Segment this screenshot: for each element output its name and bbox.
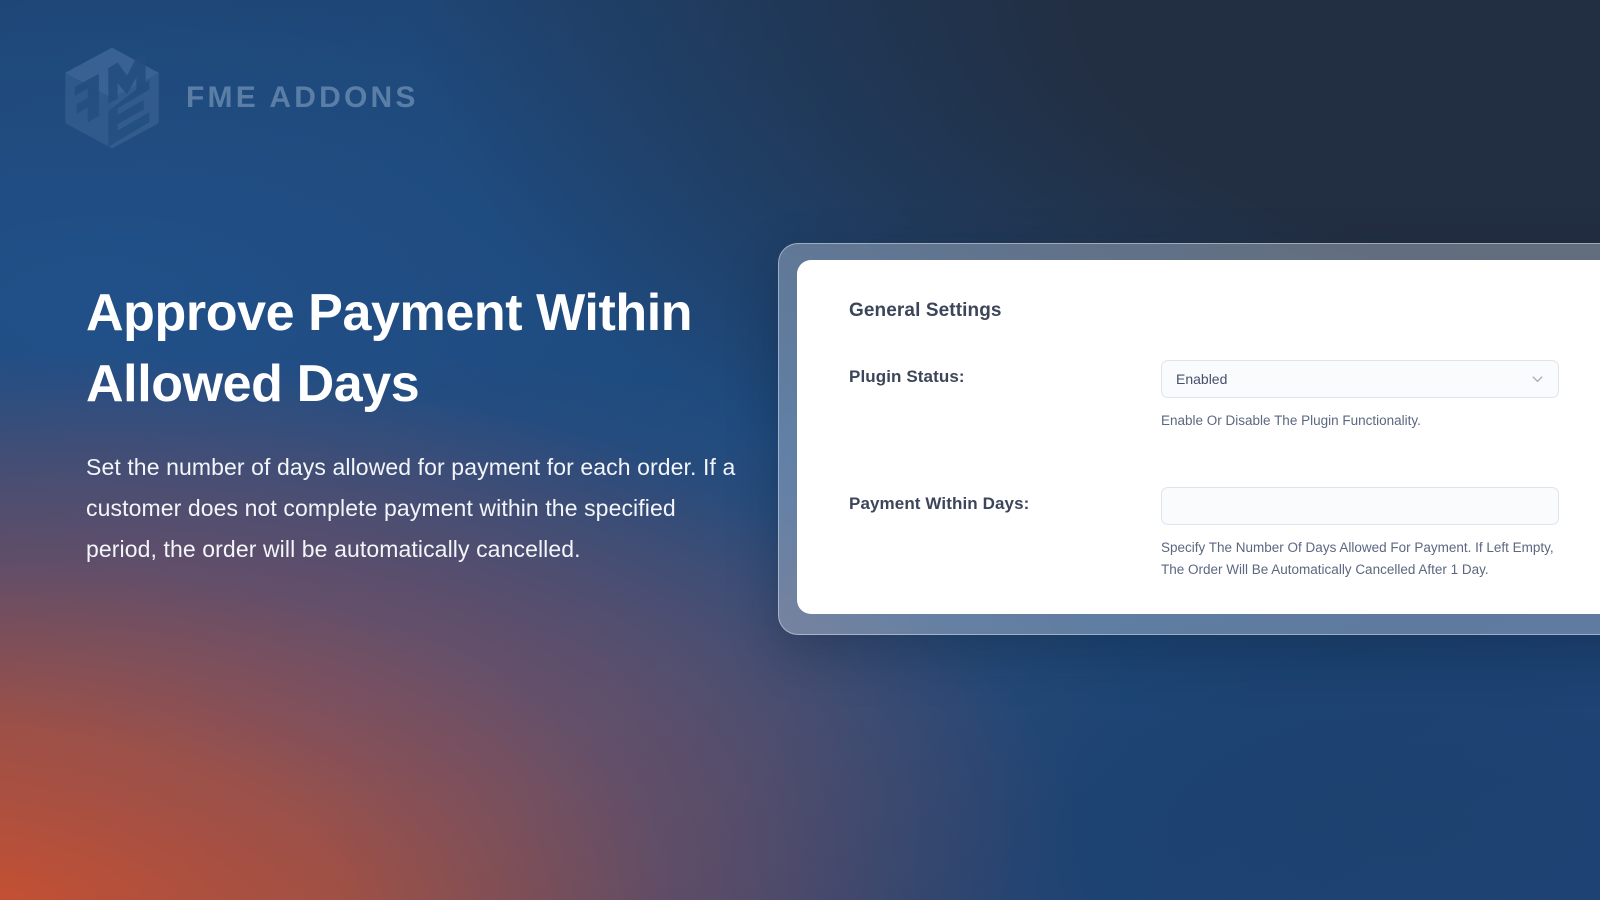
field-control-payment-within-days: Specify The Number Of Days Allowed For P… [1161, 487, 1559, 580]
chevron-down-icon[interactable] [1530, 372, 1545, 387]
field-row-payment-within-days: Payment Within Days: Specify The Number … [849, 487, 1600, 580]
settings-panel-card: General Settings Plugin Status: Enabled … [797, 260, 1600, 614]
plugin-status-select[interactable]: Enabled [1161, 360, 1559, 398]
settings-panel-content: General Settings Plugin Status: Enabled … [849, 300, 1600, 614]
field-control-plugin-status: Enabled Enable Or Disable The Plugin Fun… [1161, 360, 1559, 431]
section-heading-general-settings: General Settings [849, 300, 1600, 322]
payment-within-days-input[interactable] [1161, 487, 1559, 525]
field-help-payment-within-days: Specify The Number Of Days Allowed For P… [1161, 537, 1559, 580]
field-label-payment-within-days: Payment Within Days: [849, 487, 1161, 514]
field-row-plugin-status: Plugin Status: Enabled Enable Or Disable… [849, 360, 1600, 431]
fme-hexagon-cube-logo-icon [56, 42, 168, 154]
brand-logo-block: FME ADDONS [56, 42, 419, 154]
hero-description: Set the number of days allowed for payme… [86, 447, 746, 570]
brand-wordmark: FME ADDONS [186, 81, 419, 115]
field-label-plugin-status: Plugin Status: [849, 360, 1161, 387]
hero-section: Approve Payment Within Allowed Days Set … [86, 278, 746, 570]
page-title: Approve Payment Within Allowed Days [86, 278, 746, 419]
plugin-status-selected-value: Enabled [1176, 371, 1227, 387]
field-help-plugin-status: Enable Or Disable The Plugin Functionali… [1161, 410, 1559, 431]
settings-panel-frame: General Settings Plugin Status: Enabled … [778, 243, 1600, 635]
